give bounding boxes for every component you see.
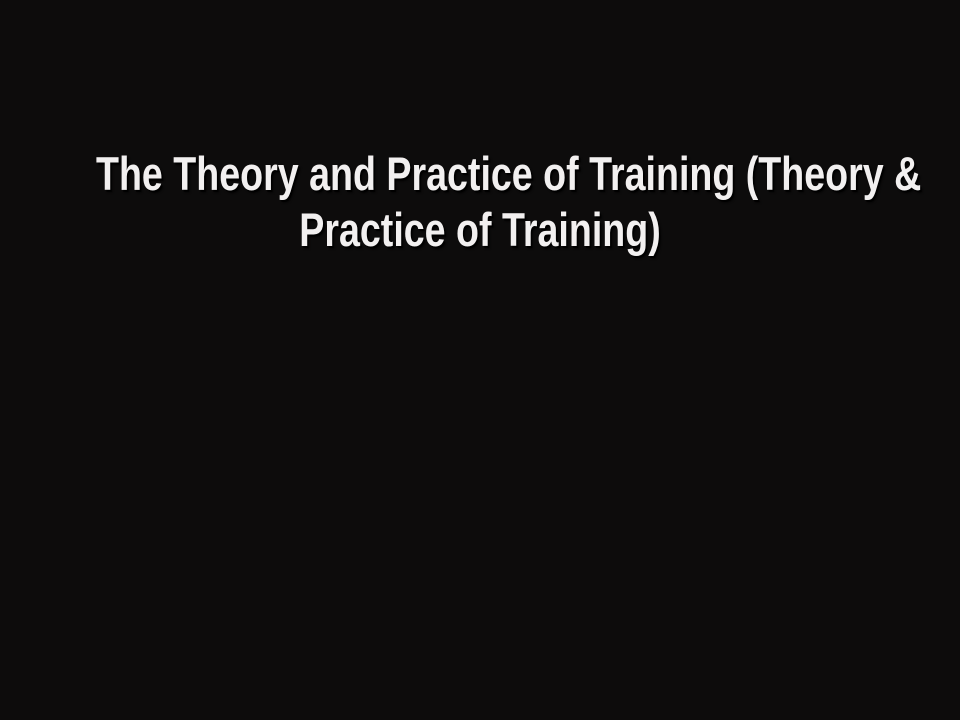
page-title: The Theory and Practice of Training (The… xyxy=(0,0,960,258)
title-card-canvas: The Theory and Practice of Training (The… xyxy=(0,0,960,720)
title-line-2: Practice of Training) xyxy=(96,202,864,258)
title-line-1: The Theory and Practice of Training (The… xyxy=(96,146,864,202)
